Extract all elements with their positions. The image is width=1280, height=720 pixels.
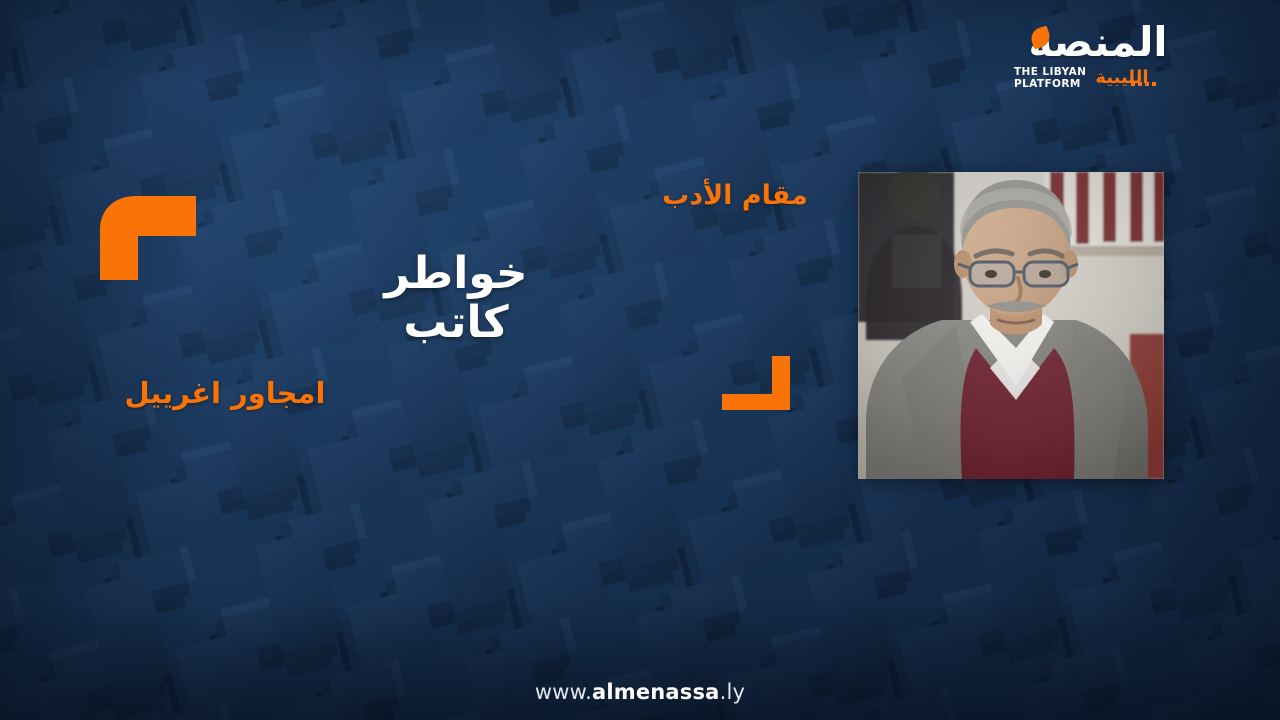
decorative-dots-icon xyxy=(1131,82,1156,86)
program-kicker: مقام الأدب xyxy=(662,181,808,211)
guest-photo xyxy=(858,172,1164,479)
site-url-main: almenassa xyxy=(592,680,720,704)
logo-secondary-row: الليبية THE LIBYAN PLATFORM xyxy=(1014,66,1182,91)
quote-open-icon xyxy=(100,196,196,280)
thumbnail-canvas: المنصة الليبية THE LIBYAN PLATFORM مقام … xyxy=(0,0,1280,720)
site-url[interactable]: www.almenassa.ly xyxy=(0,680,1280,704)
quote-close-icon xyxy=(722,356,790,410)
site-url-prefix: www. xyxy=(535,680,592,704)
page-title: خواطر كاتب xyxy=(340,249,572,348)
guest-name: امجاور اغرييل xyxy=(124,378,326,410)
brand-logo[interactable]: المنصة الليبية THE LIBYAN PLATFORM xyxy=(1014,22,1182,94)
logo-english-name: THE LIBYAN PLATFORM xyxy=(1014,66,1086,91)
site-url-suffix: .ly xyxy=(720,680,746,704)
